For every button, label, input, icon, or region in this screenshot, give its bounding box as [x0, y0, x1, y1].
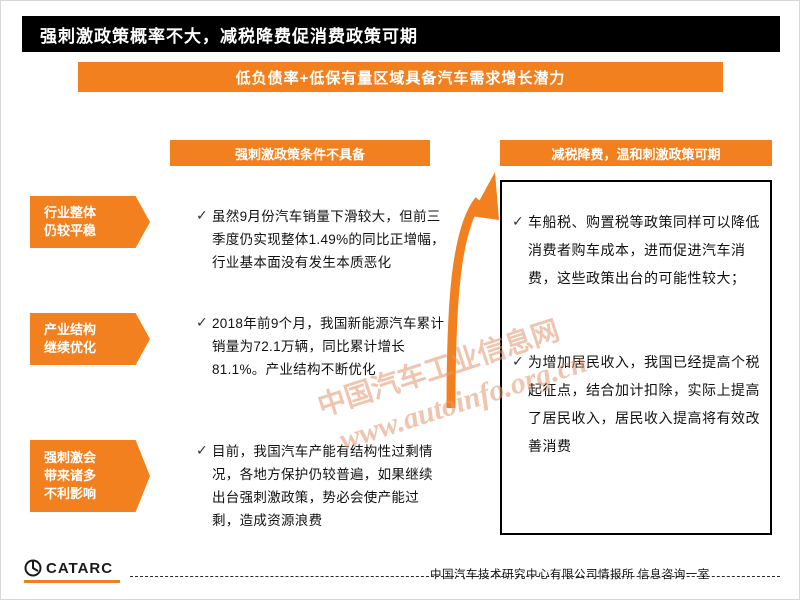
catarc-logo: CATARC	[24, 558, 124, 588]
left-bullet-text: 2018年前9个月，我国新能源汽车累计销量为72.1万辆，同比累计增长81.1%…	[212, 312, 446, 381]
slide-subtitle-banner: 低负债率+低保有量区域具备汽车需求增长潜力	[78, 62, 723, 92]
chevron-line-1: 行业整体	[44, 204, 150, 222]
chevron-line-1: 产业结构	[44, 321, 150, 339]
chevron-label-structure-optimizing: 产业结构 继续优化	[30, 313, 150, 365]
chevron-line-1: 强刺激会	[44, 449, 150, 467]
chevron-label-industry-stable: 行业整体 仍较平稳	[30, 196, 150, 248]
logo-underline	[24, 580, 120, 583]
right-bullet-text: 车船税、购置税等政策同样可以降低消费者购车成本，进而促进汽车消费，这些政策出台的…	[528, 208, 764, 292]
right-bullet-text: 为增加居民收入，我国已经提高个税起征点，结合加计扣除，实际上提高了居民收入，居民…	[528, 348, 764, 460]
subtitle-text: 低负债率+低保有量区域具备汽车需求增长潜力	[236, 67, 566, 88]
chevron-line-2: 带来诸多	[44, 467, 150, 485]
check-icon: ✓	[196, 440, 212, 463]
logo-text: CATARC	[46, 560, 113, 577]
right-column-header: 减税降费，温和刺激政策可期	[500, 140, 772, 166]
footer-text: 中国汽车技术研究中心有限公司情报所 信息咨询一室	[430, 566, 710, 582]
left-column-header: 强刺激政策条件不具备	[170, 140, 430, 166]
slide-canvas: 强刺激政策概率不大，减税降费促消费政策可期 低负债率+低保有量区域具备汽车需求增…	[0, 0, 800, 600]
right-bullet-item: ✓ 车船税、购置税等政策同样可以降低消费者购车成本，进而促进汽车消费，这些政策出…	[512, 208, 764, 292]
right-column-header-label: 减税降费，温和刺激政策可期	[551, 144, 720, 163]
check-icon: ✓	[196, 205, 212, 228]
chevron-line-2: 仍较平稳	[44, 222, 150, 240]
left-bullet-item: ✓ 虽然9月份汽车销量下滑较大，但前三季度仍实现整体1.49%的同比正增幅，行业…	[196, 205, 446, 274]
orange-arrow-icon	[445, 170, 501, 420]
left-bullet-item: ✓ 目前，我国汽车产能有结构性过剩情况，各地方保护仍较普遍，如果继续出台强刺激政…	[196, 440, 446, 532]
check-icon: ✓	[512, 348, 528, 376]
left-column-header-label: 强刺激政策条件不具备	[235, 144, 365, 163]
page-title: 强刺激政策概率不大，减税降费促消费政策可期	[40, 22, 418, 47]
chevron-line-2: 继续优化	[44, 339, 150, 357]
chevron-label-stimulus-drawbacks: 强刺激会 带来诸多 不利影响	[30, 440, 150, 512]
check-icon: ✓	[512, 208, 528, 236]
left-bullet-text: 目前，我国汽车产能有结构性过剩情况，各地方保护仍较普遍，如果继续出台强刺激政策，…	[212, 440, 446, 532]
right-bullet-item: ✓ 为增加居民收入，我国已经提高个税起征点，结合加计扣除，实际上提高了居民收入，…	[512, 348, 764, 460]
check-icon: ✓	[196, 312, 212, 335]
left-bullet-text: 虽然9月份汽车销量下滑较大，但前三季度仍实现整体1.49%的同比正增幅，行业基本…	[212, 205, 446, 274]
chevron-line-3: 不利影响	[44, 485, 150, 503]
left-bullet-item: ✓ 2018年前9个月，我国新能源汽车累计销量为72.1万辆，同比累计增长81.…	[196, 312, 446, 381]
logo-mark-icon	[24, 559, 42, 577]
slide-title-bar: 强刺激政策概率不大，减税降费促消费政策可期	[22, 16, 780, 52]
